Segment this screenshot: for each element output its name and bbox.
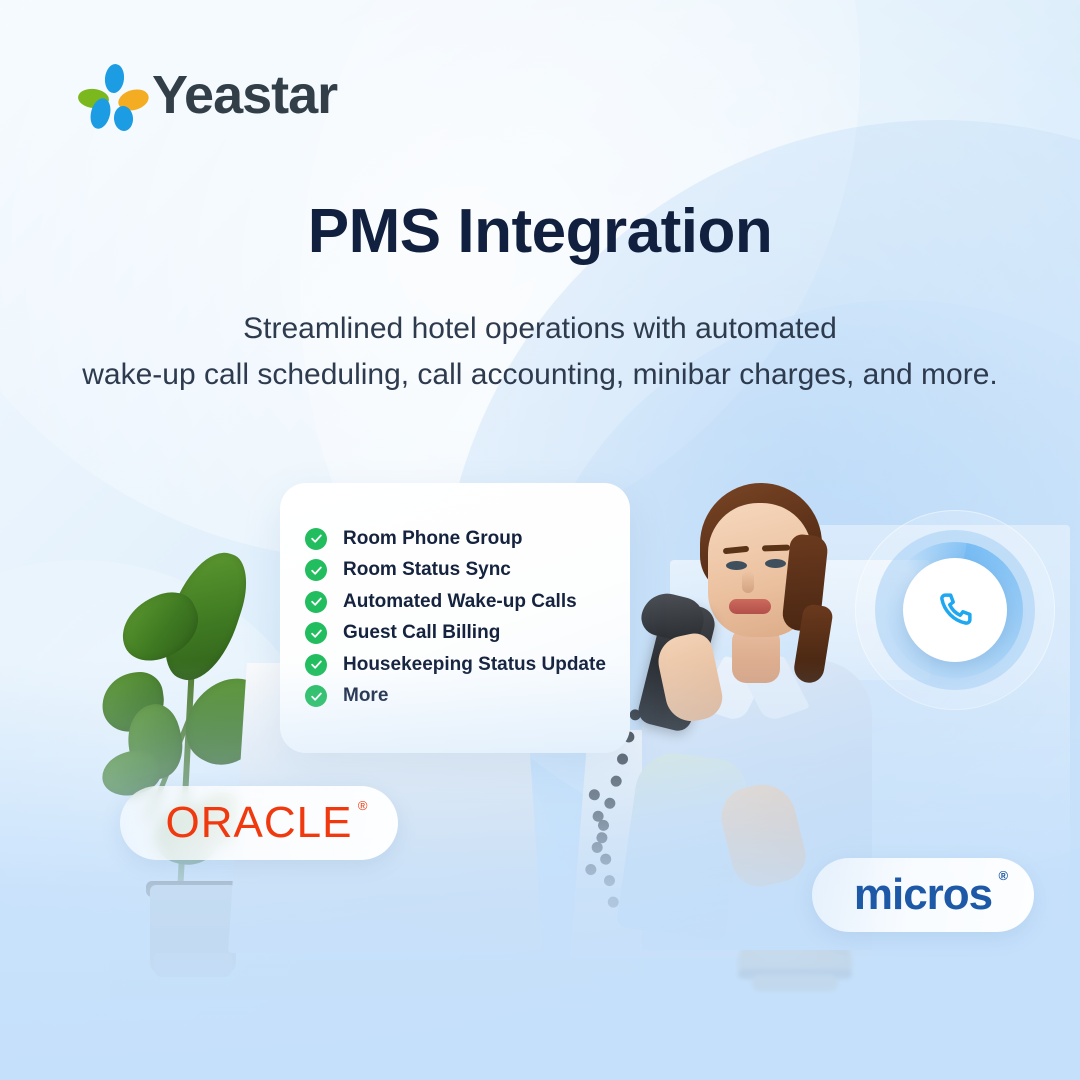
brand-wordmark: Yeastar: [152, 68, 337, 122]
feature-label: Automated Wake-up Calls: [343, 591, 577, 613]
micros-label: micros: [854, 870, 992, 919]
check-circle-icon: [305, 528, 327, 550]
yeastar-pinwheel-icon: [78, 64, 136, 126]
page-title: PMS Integration: [0, 196, 1080, 267]
feature-label: Guest Call Billing: [343, 622, 500, 644]
micros-trademark-icon: ®: [999, 869, 1008, 882]
call-badge[interactable]: [903, 558, 1007, 662]
subtitle-line-2: wake-up call scheduling, call accounting…: [0, 352, 1080, 398]
feature-label: Room Status Sync: [343, 559, 511, 581]
person-eye-right: [765, 559, 786, 568]
phone-handset-icon: [934, 589, 976, 631]
list-item[interactable]: Room Phone Group: [305, 523, 725, 555]
person-eye-left: [726, 561, 747, 570]
feature-label: Room Phone Group: [343, 528, 522, 550]
micros-wordmark: micros®: [854, 873, 992, 917]
check-circle-icon: [305, 559, 327, 581]
list-item[interactable]: Room Status Sync: [305, 555, 725, 587]
person-nose: [742, 571, 754, 593]
check-circle-icon: [305, 622, 327, 644]
page-subtitle: Streamlined hotel operations with automa…: [0, 306, 1080, 397]
list-item[interactable]: Guest Call Billing: [305, 618, 725, 650]
check-circle-icon: [305, 591, 327, 613]
logo-petal-top: [104, 63, 126, 94]
micros-badge[interactable]: micros®: [812, 858, 1034, 932]
subtitle-line-1: Streamlined hotel operations with automa…: [0, 306, 1080, 352]
list-item[interactable]: Automated Wake-up Calls: [305, 586, 725, 618]
poster-canvas: Yeastar PMS Integration Streamlined hote…: [0, 0, 1080, 1080]
yeastar-logo[interactable]: Yeastar: [78, 64, 337, 126]
oracle-wordmark: ORACLE®: [166, 801, 353, 845]
person-lips: [729, 599, 771, 614]
oracle-badge[interactable]: ORACLE®: [120, 786, 398, 860]
oracle-label: ORACLE: [166, 798, 353, 847]
oracle-trademark-icon: ®: [358, 799, 369, 812]
person-eyebrow-right: [762, 545, 790, 552]
